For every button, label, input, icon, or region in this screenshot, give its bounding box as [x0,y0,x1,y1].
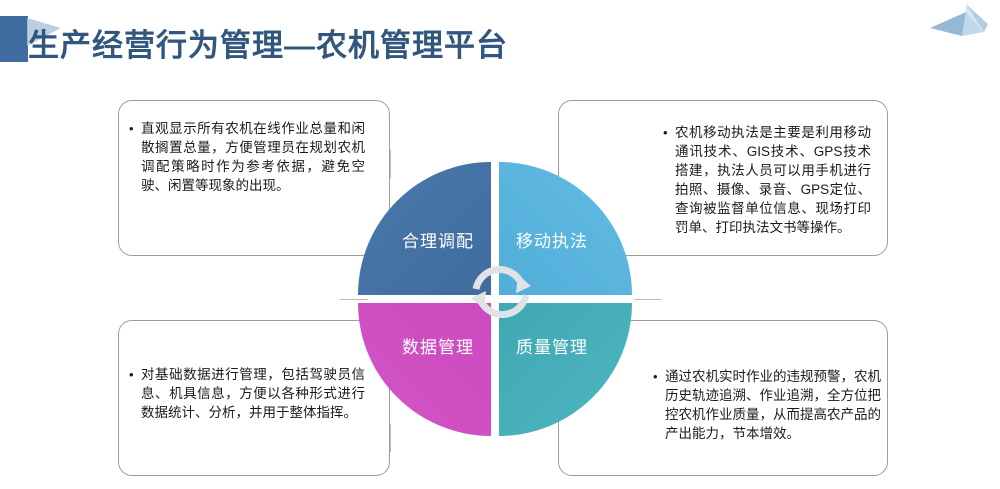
bullet-icon: • [129,119,134,138]
quadrant-label-bottom-left: 数据管理 [402,333,474,358]
bullet-icon: • [653,367,658,386]
title-accent-marker [0,16,28,62]
info-card-bottom-left-text: 对基础数据进行管理，包括驾驶员信息、机具信息，方便以各种形式进行数据统计、分析，… [141,365,365,422]
page-title: 生产经营行为管理—农机管理平台 [28,20,508,65]
cycle-arrows-icon [466,255,536,327]
origami-triangle-icon [926,2,994,48]
connector-line-right-upper [634,299,662,300]
quadrant-label-bottom-right: 质量管理 [516,333,588,358]
bullet-icon: • [129,365,134,384]
page-header: 生产经营行为管理—农机管理平台 [0,8,1000,64]
bullet-icon: • [663,123,668,142]
info-card-top-right-text: 农机移动执法是主要是利用移动通讯技术、GIS技术、GPS技术搭建，执法人员可以用… [675,123,871,237]
info-card-bottom-right-text: 通过农机实时作业的违规预警，农机历史轨迹追溯、作业追溯，全方位把控农机作业质量，… [665,367,881,443]
info-card-top-left[interactable]: • 直观显示所有农机在线作业总量和闲散搁置总量，方便管理员在规划农机调配策略时作… [118,100,390,256]
quadrant-label-top-right: 移动执法 [516,227,588,252]
info-card-bottom-left[interactable]: • 对基础数据进行管理，包括驾驶员信息、机具信息，方便以各种形式进行数据统计、分… [118,320,390,476]
info-card-top-left-text: 直观显示所有农机在线作业总量和闲散搁置总量，方便管理员在规划农机调配策略时作为参… [141,119,365,195]
quadrant-label-top-left: 合理调配 [402,227,474,252]
